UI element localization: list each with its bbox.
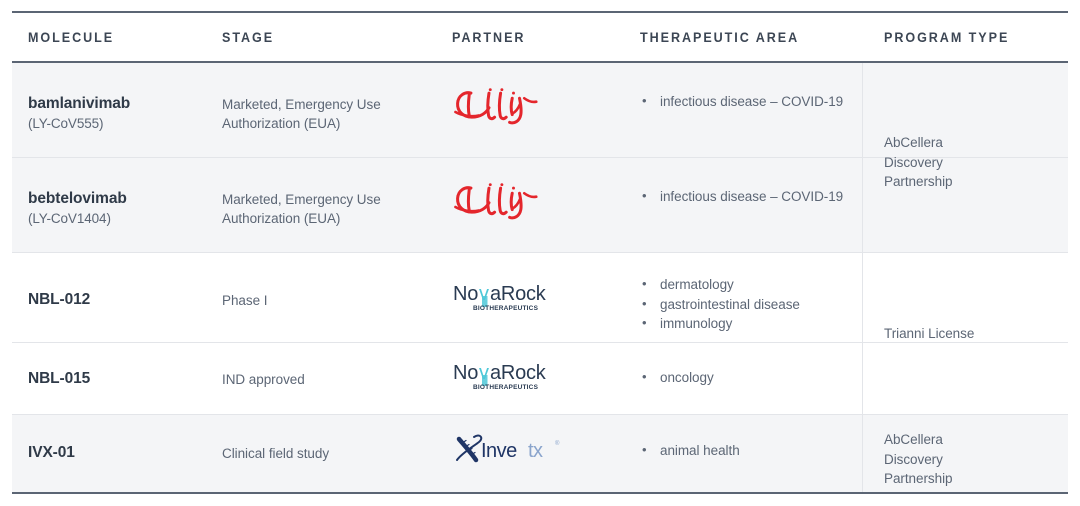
column-header-program-type: PROGRAM TYPE [884, 30, 1009, 45]
column-header-molecule: MOLECULE [28, 30, 114, 45]
molecule-code: (LY-CoV555) [28, 114, 223, 133]
table-row: NBL-015 IND approved No v aRock BIOTHERA… [12, 343, 1068, 415]
lilly-logo [452, 180, 538, 227]
cell-stage: IND approved [222, 370, 452, 389]
table-bottom-rule [12, 492, 1068, 494]
svg-text:Inve: Inve [481, 440, 517, 462]
list-item: gastrointestinal disease [640, 295, 862, 315]
svg-text:BIOTHERAPEUTICS: BIOTHERAPEUTICS [473, 305, 539, 312]
novarock-logo: No v aRock BIOTHERAPEUTICS [452, 278, 584, 323]
molecule-name: bamlanivimab [28, 94, 223, 114]
list-item: dermatology [640, 275, 862, 295]
molecule-name: IVX-01 [28, 443, 223, 463]
cell-therapeutic-area: infectious disease – COVID-19 [640, 187, 862, 207]
column-header-therapeutic-area: THERAPEUTIC AREA [640, 30, 799, 45]
cell-program-type: AbCellera Discovery Partnership [884, 133, 1064, 192]
list-item: oncology [640, 368, 862, 388]
cell-therapeutic-area: oncology [640, 368, 862, 388]
lilly-logo [452, 85, 538, 132]
program-column-divider [862, 415, 863, 492]
program-column-divider [862, 63, 863, 253]
list-item: infectious disease – COVID-19 [640, 187, 862, 207]
cell-molecule: NBL-015 [28, 369, 223, 389]
list-item: infectious disease – COVID-19 [640, 92, 862, 112]
svg-text:No: No [453, 362, 478, 384]
svg-text:aRock: aRock [490, 283, 547, 305]
svg-text:®: ® [555, 440, 560, 447]
svg-text:No: No [453, 283, 478, 305]
cell-molecule: IVX-01 [28, 443, 223, 463]
list-item: immunology [640, 314, 862, 334]
invetx-logo: Inve tx ® [452, 431, 568, 476]
cell-therapeutic-area: dermatology gastrointestinal disease imm… [640, 275, 862, 334]
pipeline-table: MOLECULE STAGE PARTNER THERAPEUTIC AREA … [0, 0, 1080, 506]
cell-molecule: bamlanivimab (LY-CoV555) [28, 94, 223, 133]
therapeutic-area-list: oncology [640, 368, 862, 388]
table-header-row: MOLECULE STAGE PARTNER THERAPEUTIC AREA … [0, 13, 1080, 61]
cell-program-type: Trianni License [884, 324, 1064, 344]
cell-stage: Clinical field study [222, 444, 452, 463]
cell-stage: Marketed, Emergency Use Authorization (E… [222, 190, 452, 228]
molecule-name: bebtelovimab [28, 189, 223, 209]
therapeutic-area-list: infectious disease – COVID-19 [640, 92, 862, 112]
cell-stage: Phase I [222, 291, 452, 310]
svg-text:BIOTHERAPEUTICS: BIOTHERAPEUTICS [473, 384, 539, 391]
cell-program-type: AbCellera Discovery Partnership [884, 430, 1064, 489]
svg-text:tx: tx [528, 440, 543, 462]
molecule-name: NBL-015 [28, 369, 223, 389]
novarock-logo: No v aRock BIOTHERAPEUTICS [452, 357, 584, 402]
therapeutic-area-list: dermatology gastrointestinal disease imm… [640, 275, 862, 334]
svg-text:aRock: aRock [490, 362, 547, 384]
column-header-partner: PARTNER [452, 30, 525, 45]
cell-therapeutic-area: infectious disease – COVID-19 [640, 92, 862, 112]
molecule-code: (LY-CoV1404) [28, 209, 223, 228]
cell-molecule: NBL-012 [28, 290, 223, 310]
cell-stage: Marketed, Emergency Use Authorization (E… [222, 95, 452, 133]
molecule-name: NBL-012 [28, 290, 223, 310]
list-item: animal health [640, 441, 862, 461]
program-column-divider [862, 253, 863, 415]
therapeutic-area-list: animal health [640, 441, 862, 461]
therapeutic-area-list: infectious disease – COVID-19 [640, 187, 862, 207]
column-header-stage: STAGE [222, 30, 274, 45]
cell-therapeutic-area: animal health [640, 441, 862, 461]
cell-molecule: bebtelovimab (LY-CoV1404) [28, 189, 223, 228]
